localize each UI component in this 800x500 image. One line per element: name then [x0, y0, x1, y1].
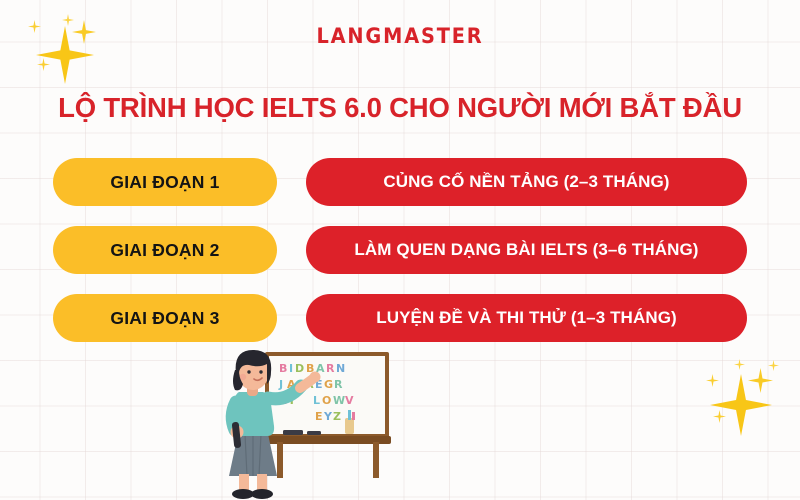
- svg-text:Z: Z: [333, 410, 341, 423]
- svg-text:L: L: [313, 394, 320, 407]
- svg-text:W: W: [333, 394, 345, 407]
- stage-description-1[interactable]: CỦNG CỐ NỀN TẢNG (2–3 THÁNG): [306, 158, 747, 206]
- teacher-at-whiteboard-illustration: B I D B A R N J A F A E G R - A T L O W: [205, 348, 395, 500]
- stage-badge-1[interactable]: GIAI ĐOẠN 1: [53, 158, 277, 206]
- stage-description-3[interactable]: LUYỆN ĐỀ VÀ THI THỬ (1–3 THÁNG): [306, 294, 747, 342]
- sparkle-star-small: [706, 374, 719, 387]
- brand-logo-langmaster: LANGMASTER: [32, 24, 768, 48]
- svg-text:E: E: [315, 410, 323, 423]
- sparkle-decoration-bottom-right: [700, 358, 792, 450]
- svg-text:Y: Y: [323, 410, 333, 423]
- stage-row: GIAI ĐOẠN 3 LUYỆN ĐỀ VÀ THI THỬ (1–3 THÁ…: [0, 294, 800, 342]
- stage-badge-3[interactable]: GIAI ĐOẠN 3: [53, 294, 277, 342]
- stage-badge-2[interactable]: GIAI ĐOẠN 2: [53, 226, 277, 274]
- stage-list: GIAI ĐOẠN 1 CỦNG CỐ NỀN TẢNG (2–3 THÁNG)…: [0, 158, 800, 362]
- svg-text:B: B: [279, 362, 287, 375]
- svg-text:I: I: [289, 362, 293, 375]
- page-title: LỘ TRÌNH HỌC IELTS 6.0 CHO NGƯỜI MỚI BẮT…: [0, 92, 800, 124]
- svg-text:O: O: [322, 394, 331, 407]
- svg-text:G: G: [324, 378, 333, 391]
- sparkle-star-small: [37, 58, 50, 71]
- svg-text:D: D: [295, 362, 304, 375]
- svg-text:R: R: [326, 362, 335, 375]
- sparkle-star-large: [710, 374, 772, 436]
- stage-description-2[interactable]: LÀM QUEN DẠNG BÀI IELTS (3–6 THÁNG): [306, 226, 747, 274]
- svg-text:V: V: [345, 394, 354, 407]
- stage-row: GIAI ĐOẠN 2 LÀM QUEN DẠNG BÀI IELTS (3–6…: [0, 226, 800, 274]
- stage-row: GIAI ĐOẠN 1 CỦNG CỐ NỀN TẢNG (2–3 THÁNG): [0, 158, 800, 206]
- svg-text:J: J: [278, 378, 283, 391]
- sparkle-star-small: [713, 410, 726, 423]
- svg-text:N: N: [336, 362, 345, 375]
- sparkle-star-medium: [748, 368, 773, 393]
- svg-text:R: R: [334, 378, 343, 391]
- poster-canvas: LANGMASTER LỘ TRÌNH HỌC IELTS 6.0 CHO NG…: [0, 0, 800, 500]
